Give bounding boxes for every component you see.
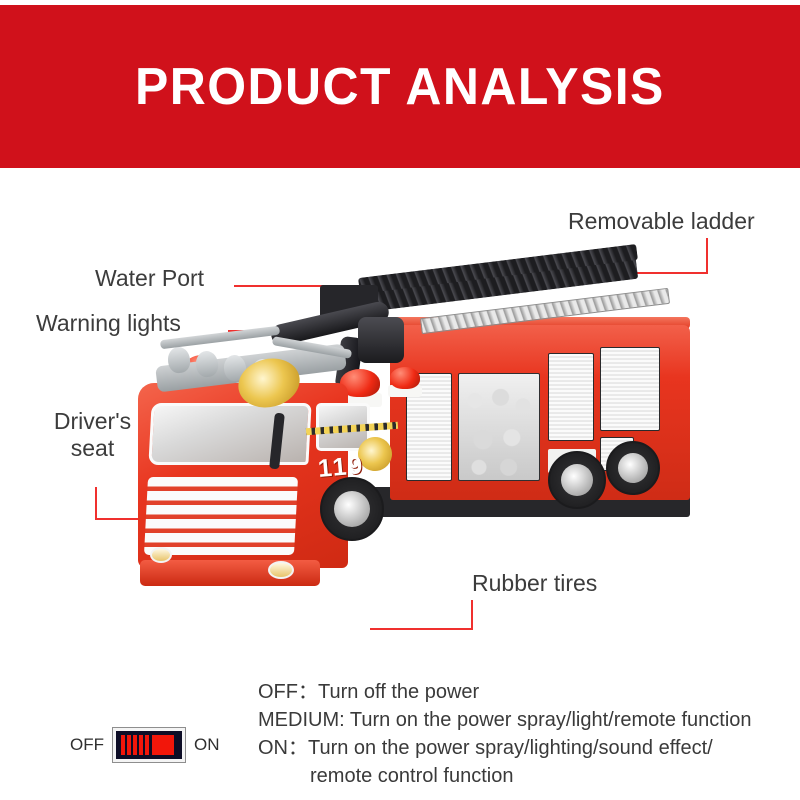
switch-off-label: OFF [70,735,104,755]
truck-wheel-hub-rear-1 [561,464,593,496]
truck-windshield [148,403,311,465]
switch-on-label: ON [194,735,220,755]
legend-line-medium: MEDIUM: Turn on the power spray/light/re… [258,706,752,734]
drivers-seat-line-2: seat [71,435,114,461]
truck-front-grille [144,477,298,555]
switch-bar-3 [133,735,137,755]
truck-water-cannon-base [358,317,404,363]
legend-line-on-continued: remote control function [258,762,752,790]
legend-line-off: OFF：Turn off the power [258,678,752,706]
switch-slider-block [152,735,174,755]
switch-bar-4 [139,735,143,755]
switch-body[interactable] [113,728,185,762]
switch-bar-2 [127,735,131,755]
power-switch-illustration: OFF ON [70,728,220,762]
truck-wheel-hub-rear-2 [618,453,648,483]
page-title: PRODUCT ANALYSIS [135,57,665,117]
truck-shutter-panel-3 [600,347,660,431]
truck-warning-light-rear [390,367,420,389]
switch-bar-1 [121,735,125,755]
callout-label-removable-ladder: Removable ladder [568,208,755,235]
product-analysis-page: PRODUCT ANALYSIS Removable ladder Water … [0,0,800,800]
switch-bar-5 [145,735,149,755]
truck-headlamp-right [268,561,294,579]
truck-equipment-cluster [458,373,540,481]
leader-line-removable-ladder-vertical [706,238,708,274]
truck-headlamp-left [150,547,172,563]
header-banner: PRODUCT ANALYSIS [0,5,800,168]
legend-line-on: ON：Turn on the power spray/lighting/soun… [258,734,752,762]
switch-legend: OFF：Turn off the power MEDIUM: Turn on t… [258,678,752,790]
truck-wheel-hub-front [334,491,370,527]
truck-shutter-panel-2 [548,353,594,441]
truck-roof-rail-front [160,326,280,350]
product-image-fire-truck: 119 [120,255,700,665]
leader-line-drivers-seat-vertical [95,487,97,520]
